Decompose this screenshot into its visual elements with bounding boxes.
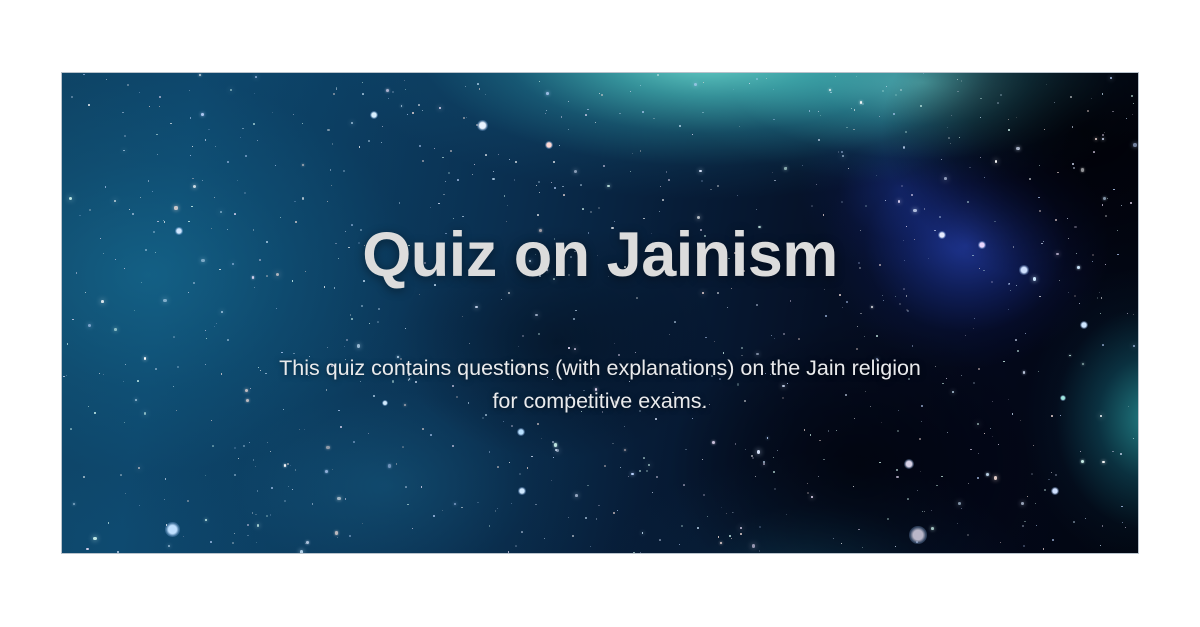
page-canvas: Quiz on Jainism This quiz contains quest… [0, 0, 1200, 627]
page-subtitle: This quiz contains questions (with expla… [270, 352, 930, 419]
page-title: Quiz on Jainism [362, 221, 838, 289]
hero-text-block: Quiz on Jainism This quiz contains quest… [62, 73, 1138, 553]
quiz-hero-banner: Quiz on Jainism This quiz contains quest… [61, 72, 1139, 554]
star [1138, 275, 1139, 277]
